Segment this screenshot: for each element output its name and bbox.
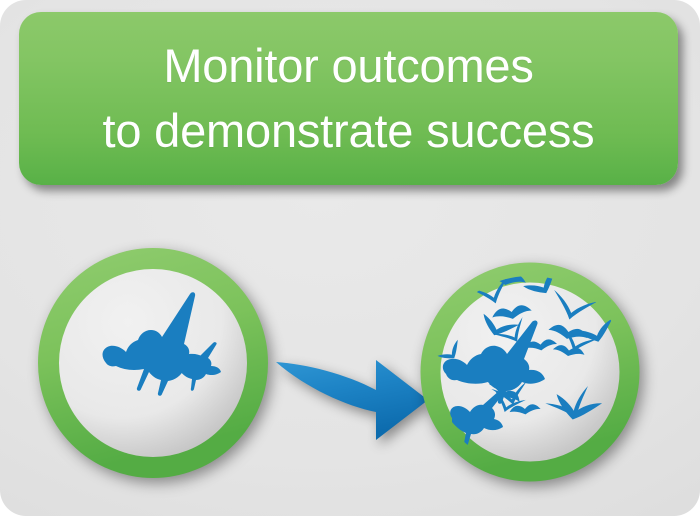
bird-icon xyxy=(548,290,598,325)
bird-icon xyxy=(576,319,616,346)
bird-icon xyxy=(572,453,626,482)
transition-arrow xyxy=(272,340,434,450)
bird-group-left xyxy=(38,248,268,478)
bird-flock-right xyxy=(420,262,640,482)
arrow-shape xyxy=(276,360,428,440)
bird-icon xyxy=(548,262,577,281)
few-birds-circle xyxy=(38,248,268,478)
slide-canvas: Monitor outcomes to demonstrate success xyxy=(0,0,700,516)
bird-icon xyxy=(522,268,564,301)
slide-root: Monitor outcomes to demonstrate success xyxy=(0,0,700,516)
title-banner: Monitor outcomes to demonstrate success xyxy=(19,12,678,185)
many-birds-circle xyxy=(420,262,640,482)
title-line-2: to demonstrate success xyxy=(103,99,595,164)
bird-icon xyxy=(567,449,623,482)
title-line-1: Monitor outcomes xyxy=(163,34,533,99)
bird-medium-icon xyxy=(450,389,504,446)
bird-icon xyxy=(485,270,526,288)
bird-icon xyxy=(491,304,532,323)
